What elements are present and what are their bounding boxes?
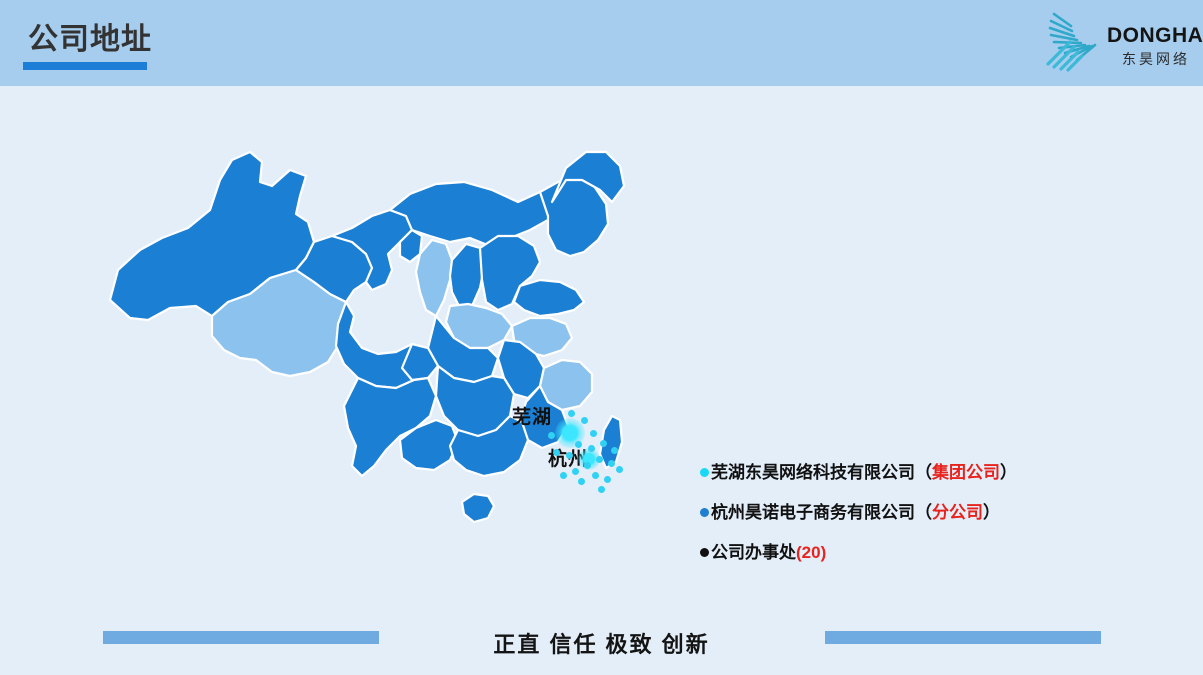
office-dot[interactable] xyxy=(584,462,591,469)
office-dot[interactable] xyxy=(616,466,623,473)
office-dot[interactable] xyxy=(568,410,575,417)
office-dot[interactable] xyxy=(598,486,605,493)
china-map-svg xyxy=(100,110,700,610)
feather-wing-icon xyxy=(1040,6,1110,72)
office-dot[interactable] xyxy=(548,432,555,439)
page-title: 公司地址 xyxy=(28,22,152,58)
legend-item-offices: 公司办事处(20) xyxy=(700,542,1130,582)
province-shandong xyxy=(514,280,584,316)
office-dot[interactable] xyxy=(592,472,599,479)
slide-canvas: 公司地址 DONGHAO 东昊网络 xyxy=(0,0,1203,675)
legend-paren-open: （ xyxy=(915,503,932,522)
legend-tag: 分公司 xyxy=(932,503,983,522)
legend-label: 芜湖东昊网络科技有限公司 xyxy=(711,463,915,482)
office-dot[interactable] xyxy=(581,417,588,424)
office-dot[interactable] xyxy=(590,430,597,437)
office-dot[interactable] xyxy=(553,449,560,456)
office-dot[interactable] xyxy=(578,478,585,485)
legend-tag: (20) xyxy=(796,543,826,562)
province-shanxi xyxy=(450,244,484,308)
legend-item-group-company: 芜湖东昊网络科技有限公司（集团公司） xyxy=(700,462,1130,502)
province-shaanxi xyxy=(416,240,452,316)
legend-label: 杭州昊诺电子商务有限公司 xyxy=(711,503,915,522)
office-dot[interactable] xyxy=(588,445,595,452)
footer-bar-right xyxy=(825,631,1101,644)
legend-paren-close: ） xyxy=(983,503,1000,522)
china-map xyxy=(100,110,700,610)
legend-paren-open: （ xyxy=(915,463,932,482)
legend-bullet-blue-icon xyxy=(700,508,709,517)
office-dot[interactable] xyxy=(575,441,582,448)
logo-name-en: DONGHAO xyxy=(1107,24,1203,48)
header-band xyxy=(0,0,1203,86)
company-logo: DONGHAO 东昊网络 xyxy=(1040,4,1200,78)
legend-bullet-black-icon xyxy=(700,548,709,557)
office-dot[interactable] xyxy=(560,472,567,479)
office-dot[interactable] xyxy=(566,452,573,459)
legend-tag: 集团公司 xyxy=(932,463,1000,482)
logo-name-cn: 东昊网络 xyxy=(1122,49,1190,69)
title-underline xyxy=(23,62,147,70)
city-label-wuhu: 芜湖 xyxy=(512,402,552,429)
legend-item-branch-company: 杭州昊诺电子商务有限公司（分公司） xyxy=(700,502,1130,542)
legend-paren-close: ） xyxy=(1000,463,1017,482)
office-dot[interactable] xyxy=(611,447,618,454)
office-dot[interactable] xyxy=(608,460,615,467)
office-dot[interactable] xyxy=(572,468,579,475)
office-dot[interactable] xyxy=(596,456,603,463)
legend: 芜湖东昊网络科技有限公司（集团公司） 杭州昊诺电子商务有限公司（分公司） 公司办… xyxy=(700,462,1130,582)
office-dot[interactable] xyxy=(604,476,611,483)
office-dot[interactable] xyxy=(600,440,607,447)
province-hainan xyxy=(462,494,494,522)
legend-label: 公司办事处 xyxy=(711,543,796,562)
legend-bullet-cyan-icon xyxy=(700,468,709,477)
